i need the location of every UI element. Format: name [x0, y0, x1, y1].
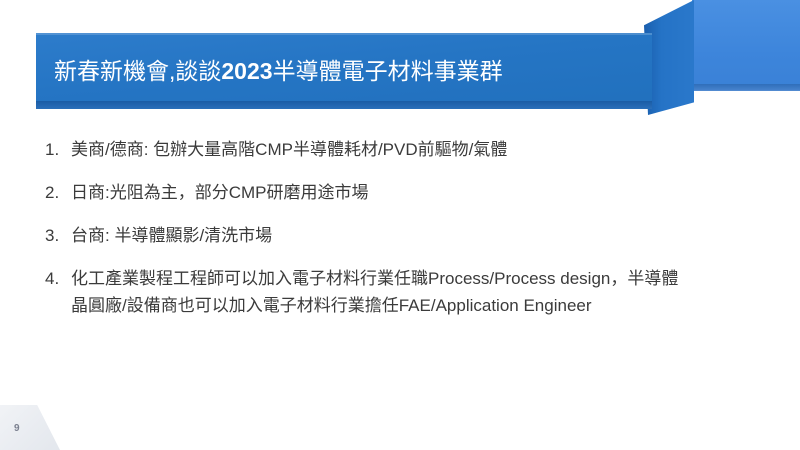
- slide-title: 新春新機會,談談2023半導體電子材料事業群: [54, 49, 654, 93]
- list-item-text: 美商/德商: 包辦大量高階CMP半導體耗材/PVD前驅物/氣體: [71, 136, 745, 163]
- list-item-number: 4.: [45, 265, 71, 292]
- slide-title-part-1: 新春新機會,談談: [54, 58, 221, 84]
- list-item-text: 日商:光阻為主，部分CMP研磨用途市場: [71, 179, 745, 206]
- ribbon-right-wing: [692, 0, 800, 90]
- list-item: 1. 美商/德商: 包辦大量高階CMP半導體耗材/PVD前驅物/氣體: [45, 136, 745, 163]
- list-item-text: 台商: 半導體顯影/清洗市場: [71, 222, 745, 249]
- page-number: 9: [14, 423, 20, 435]
- ribbon-title-bar-shadow: [36, 101, 652, 109]
- list-item: 3. 台商: 半導體顯影/清洗市場: [45, 222, 745, 249]
- ribbon-title-bar-highlight: [36, 33, 652, 35]
- page-number-corner-shape: [0, 405, 60, 450]
- list-item-number: 2.: [45, 179, 71, 206]
- list-item-text: 化工產業製程工程師可以加入電子材料行業任職Process/Process des…: [71, 265, 691, 319]
- slide-body-list: 1. 美商/德商: 包辦大量高階CMP半導體耗材/PVD前驅物/氣體 2. 日商…: [45, 136, 745, 335]
- list-item-number: 1.: [45, 136, 71, 163]
- slide-title-part-2: 半導體電子材料事業群: [273, 58, 503, 84]
- ribbon-right-wing-shadow: [692, 84, 800, 91]
- slide-canvas: 新春新機會,談談2023半導體電子材料事業群 1. 美商/德商: 包辦大量高階C…: [0, 0, 800, 450]
- list-item: 4. 化工產業製程工程師可以加入電子材料行業任職Process/Process …: [45, 265, 745, 319]
- slide-title-year: 2023: [221, 58, 272, 84]
- list-item-number: 3.: [45, 222, 71, 249]
- list-item: 2. 日商:光阻為主，部分CMP研磨用途市場: [45, 179, 745, 206]
